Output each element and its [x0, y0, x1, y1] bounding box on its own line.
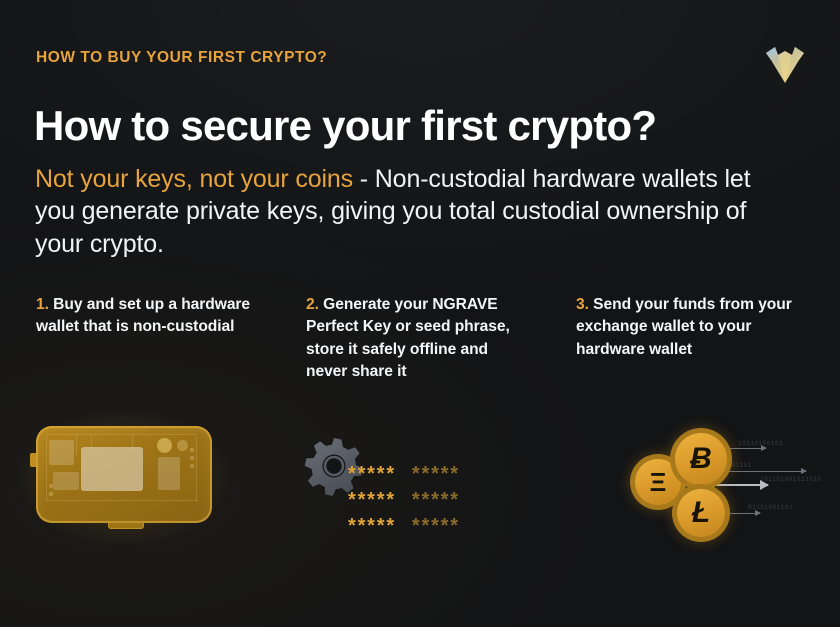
page-title: How to secure your first crypto? — [34, 102, 656, 149]
subheading-accent: Not your keys, not your coins — [35, 165, 353, 193]
wallet-body — [36, 426, 212, 523]
step-number-2: 2. — [306, 296, 319, 313]
step-item-2: 2. Generate your NGRAVE Perfect Key or s… — [306, 294, 531, 384]
eyebrow-label: HOW TO BUY YOUR FIRST CRYPTO? — [36, 49, 327, 67]
steps-list: 1. Buy and set up a hardware wallet that… — [0, 294, 840, 414]
wallet-component-round-small — [177, 440, 188, 451]
slide-root: HOW TO BUY YOUR FIRST CRYPTO? How to sec… — [0, 0, 840, 627]
wallet-trace — [47, 434, 197, 435]
bitcoin-coin: Ƀ — [670, 428, 732, 490]
binary-decoration: 101101001011010 — [760, 476, 822, 483]
wallet-trace — [196, 436, 197, 502]
step-number-1: 1. — [36, 296, 49, 313]
passphrase-group-bright: ***** — [348, 516, 396, 536]
step-text-3: Send your funds from your exchange walle… — [576, 296, 792, 358]
passphrase-group-dim: ***** — [412, 490, 460, 510]
step-number-3: 3. — [576, 296, 589, 313]
wallet-connector — [108, 522, 144, 529]
step-item-3: 3. Send your funds from your exchange wa… — [576, 294, 806, 361]
masked-passphrase: ***** ***** ***** ***** ***** ***** — [348, 461, 518, 539]
passphrase-group-bright: ***** — [348, 490, 396, 510]
wallet-chip-left-lower — [53, 472, 79, 490]
wallet-component-dot — [49, 492, 53, 496]
step-text-2: Generate your NGRAVE Perfect Key or seed… — [306, 296, 510, 380]
wallet-screen — [81, 447, 143, 491]
wallet-chip-left — [49, 440, 74, 465]
passphrase-group-dim: ***** — [412, 464, 460, 484]
wallet-component-dot — [190, 448, 194, 452]
transfer-arrow — [726, 471, 806, 472]
litecoin-coin: Ł — [672, 484, 730, 542]
bitcoin-icon: Ƀ — [690, 444, 712, 474]
ngrave-diamond-logo — [763, 42, 807, 84]
passphrase-row: ***** ***** — [348, 461, 518, 487]
wallet-component-dot — [190, 464, 194, 468]
step-text-1: Buy and set up a hardware wallet that is… — [36, 296, 250, 335]
wallet-trace — [76, 435, 77, 455]
ethereum-icon: Ξ — [650, 469, 667, 495]
step-item-1: 1. Buy and set up a hardware wallet that… — [36, 294, 266, 339]
wallet-trace — [47, 500, 197, 501]
wallet-component-dot — [190, 456, 194, 460]
wallet-component-round — [157, 438, 172, 453]
crypto-transfer-illustration: 10110100101 0110100110101101 10110100101… — [630, 418, 836, 546]
transfer-arrow — [726, 448, 766, 449]
wallet-chip-right — [158, 457, 180, 490]
illustration-row: ***** ***** ***** ***** ***** ***** 1011… — [0, 412, 840, 552]
passphrase-row: ***** ***** — [348, 513, 518, 539]
wallet-trace — [91, 435, 92, 447]
hardware-wallet-xray-illustration — [36, 426, 212, 526]
subheading: Not your keys, not your coins - Non-cust… — [35, 163, 755, 260]
passphrase-group-dim: ***** — [412, 516, 460, 536]
passphrase-row: ***** ***** — [348, 487, 518, 513]
wallet-component-dot — [49, 484, 53, 488]
passphrase-group-bright: ***** — [348, 464, 396, 484]
litecoin-icon: Ł — [692, 498, 710, 528]
wallet-trace — [132, 435, 133, 447]
wallet-trace — [46, 436, 47, 502]
